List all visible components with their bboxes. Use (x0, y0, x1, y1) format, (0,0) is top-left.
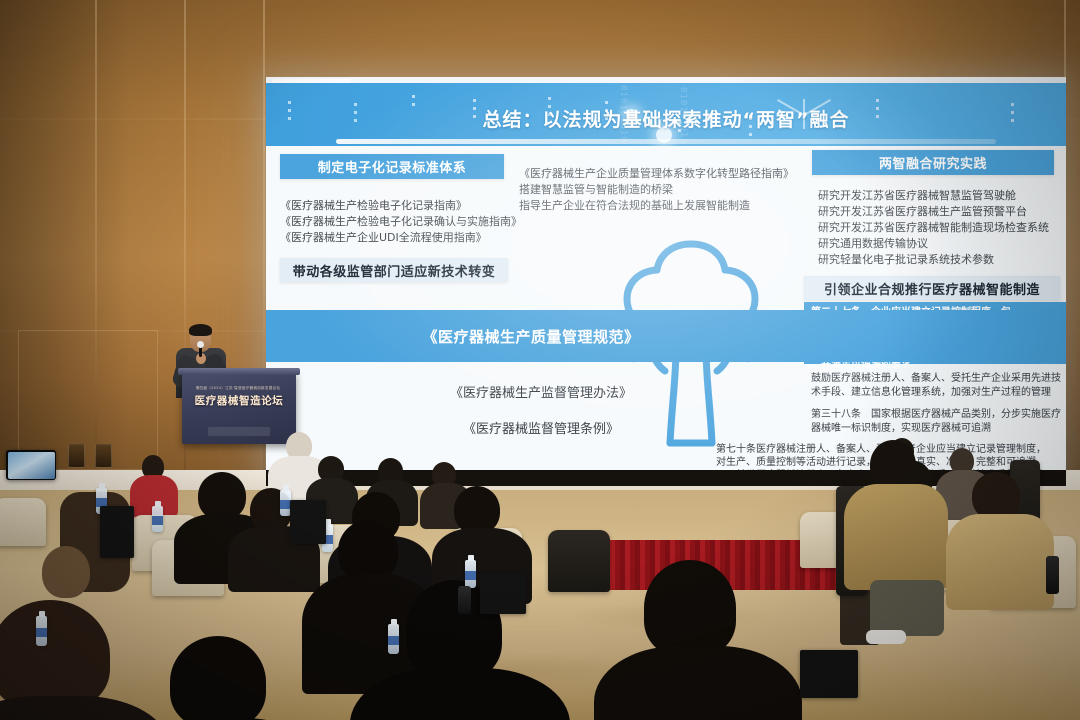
podium-title: 医疗器械智造论坛 (186, 393, 292, 408)
wall-outlet[interactable] (95, 444, 112, 468)
projection-screen: 010101010 010101010 总结：以法规为基础探索推动“两智”融合 (266, 77, 1066, 477)
podium-footer-bar (208, 427, 270, 436)
slide-header-banner: 010101010 010101010 总结：以法规为基础探索推动“两智”融合 (266, 83, 1066, 146)
water-bottle[interactable] (36, 616, 47, 646)
screenshot-root: 010101010 010101010 总结：以法规为基础探索推动“两智”融合 (0, 0, 1080, 720)
list-item: 研究开发江苏省医疗器械生产监管预警平台 (818, 204, 1063, 220)
smartphone-recording[interactable] (6, 450, 56, 480)
list-item: 《医疗器械生产企业质量管理体系数字化转型路径指南》 (519, 166, 819, 182)
water-bottle[interactable] (152, 506, 163, 532)
list-item: 研究开发江苏省医疗器械智慧监管驾驶舱 (818, 188, 1063, 204)
list-item: 搭建智慧监管与智能制造的桥梁 (519, 182, 819, 198)
list-item: 研究开发江苏省医疗器械智能制造现场检查系统 (818, 220, 1063, 236)
laptop[interactable] (800, 650, 858, 698)
attendee-legs (870, 580, 944, 636)
law-block-1: 鼓励医疗器械注册人、备案人、受托生产企业采用先进技 术手段、建立信息化管理系统，… (811, 372, 1063, 400)
law-line: 第三十八条 国家根据医疗器械产品类别，分步实施医疗 (811, 408, 1063, 422)
center-column-items: 《医疗器械生产企业质量管理体系数字化转型路径指南》 搭建智慧监管与智能制造的桥梁… (519, 166, 819, 214)
right-column-items: 研究开发江苏省医疗器械智慧监管驾驶舱 研究开发江苏省医疗器械生产监管预警平台 研… (818, 188, 1063, 268)
tumbler[interactable] (458, 586, 471, 614)
list-item: 《医疗器械生产企业UDI全流程使用指南》 (280, 230, 510, 246)
list-item: 《医疗器械生产检验电子化记录确认与实施指南》 (280, 214, 510, 230)
list-item: 研究轻量化电子批记录系统技术参数 (818, 252, 1063, 268)
tumbler[interactable] (1046, 556, 1059, 594)
wall-outlet[interactable] (68, 444, 85, 468)
title-underline (336, 139, 996, 144)
chair[interactable] (548, 530, 610, 592)
list-item: 研究通用数据传输协议 (818, 236, 1063, 252)
list-item: 《医疗器械生产检验电子化记录指南》 (280, 198, 510, 214)
left-column-subheading: 带动各级监管部门适应新技术转变 (280, 258, 508, 282)
left-column-heading: 制定电子化记录标准体系 (280, 154, 504, 179)
law-line: 术手段、建立信息化管理系统，加强对生产过程的管理 (811, 386, 1063, 400)
slide-body: 制定电子化记录标准体系 《医疗器械生产检验电子化记录指南》 《医疗器械生产检验电… (266, 146, 1066, 477)
laptop[interactable] (480, 574, 526, 614)
list-item: 指导生产企业在符合法规的基础上发展智能制造 (519, 198, 819, 214)
podium-subtitle: 第四届（2024）江苏·智造医疗器械创新发展论坛 (190, 386, 286, 391)
laptop[interactable] (100, 506, 134, 558)
right-column-heading: 两智融合研究实践 (812, 150, 1054, 175)
water-bottle[interactable] (465, 560, 476, 588)
attendee-shoe (866, 630, 906, 644)
microphone-icon (199, 345, 202, 357)
center-banner-title: 《医疗器械生产质量管理规范》 (266, 326, 796, 347)
presenter-hair (189, 324, 212, 336)
podium-top (178, 368, 300, 375)
water-bottle[interactable] (388, 624, 399, 654)
law-block-2: 第三十八条 国家根据医疗器械产品类别，分步实施医疗 器械唯一标识制度，实现医疗器… (811, 408, 1063, 436)
right-column-subheading: 引领企业合规推行医疗器械智能制造 (804, 276, 1060, 300)
slide-title: 总结：以法规为基础探索推动“两智”融合 (266, 105, 1066, 132)
wall-panel (18, 330, 158, 470)
chair[interactable] (0, 498, 46, 546)
laptop[interactable] (290, 500, 326, 544)
law-line: 鼓励医疗器械注册人、备案人、受托生产企业采用先进技 (811, 372, 1063, 386)
banner-item-1: 《医疗器械生产监督管理办法》 (326, 382, 756, 401)
left-column-items: 《医疗器械生产检验电子化记录指南》 《医疗器械生产检验电子化记录确认与实施指南》… (280, 198, 510, 246)
banner-item-2: 《医疗器械监督管理条例》 (326, 418, 756, 437)
podium: 第四届（2024）江苏·智造医疗器械创新发展论坛 医疗器械智造论坛 (182, 372, 296, 444)
law-line: 器械唯一标识制度，实现医疗器械可追溯 (811, 422, 1063, 436)
